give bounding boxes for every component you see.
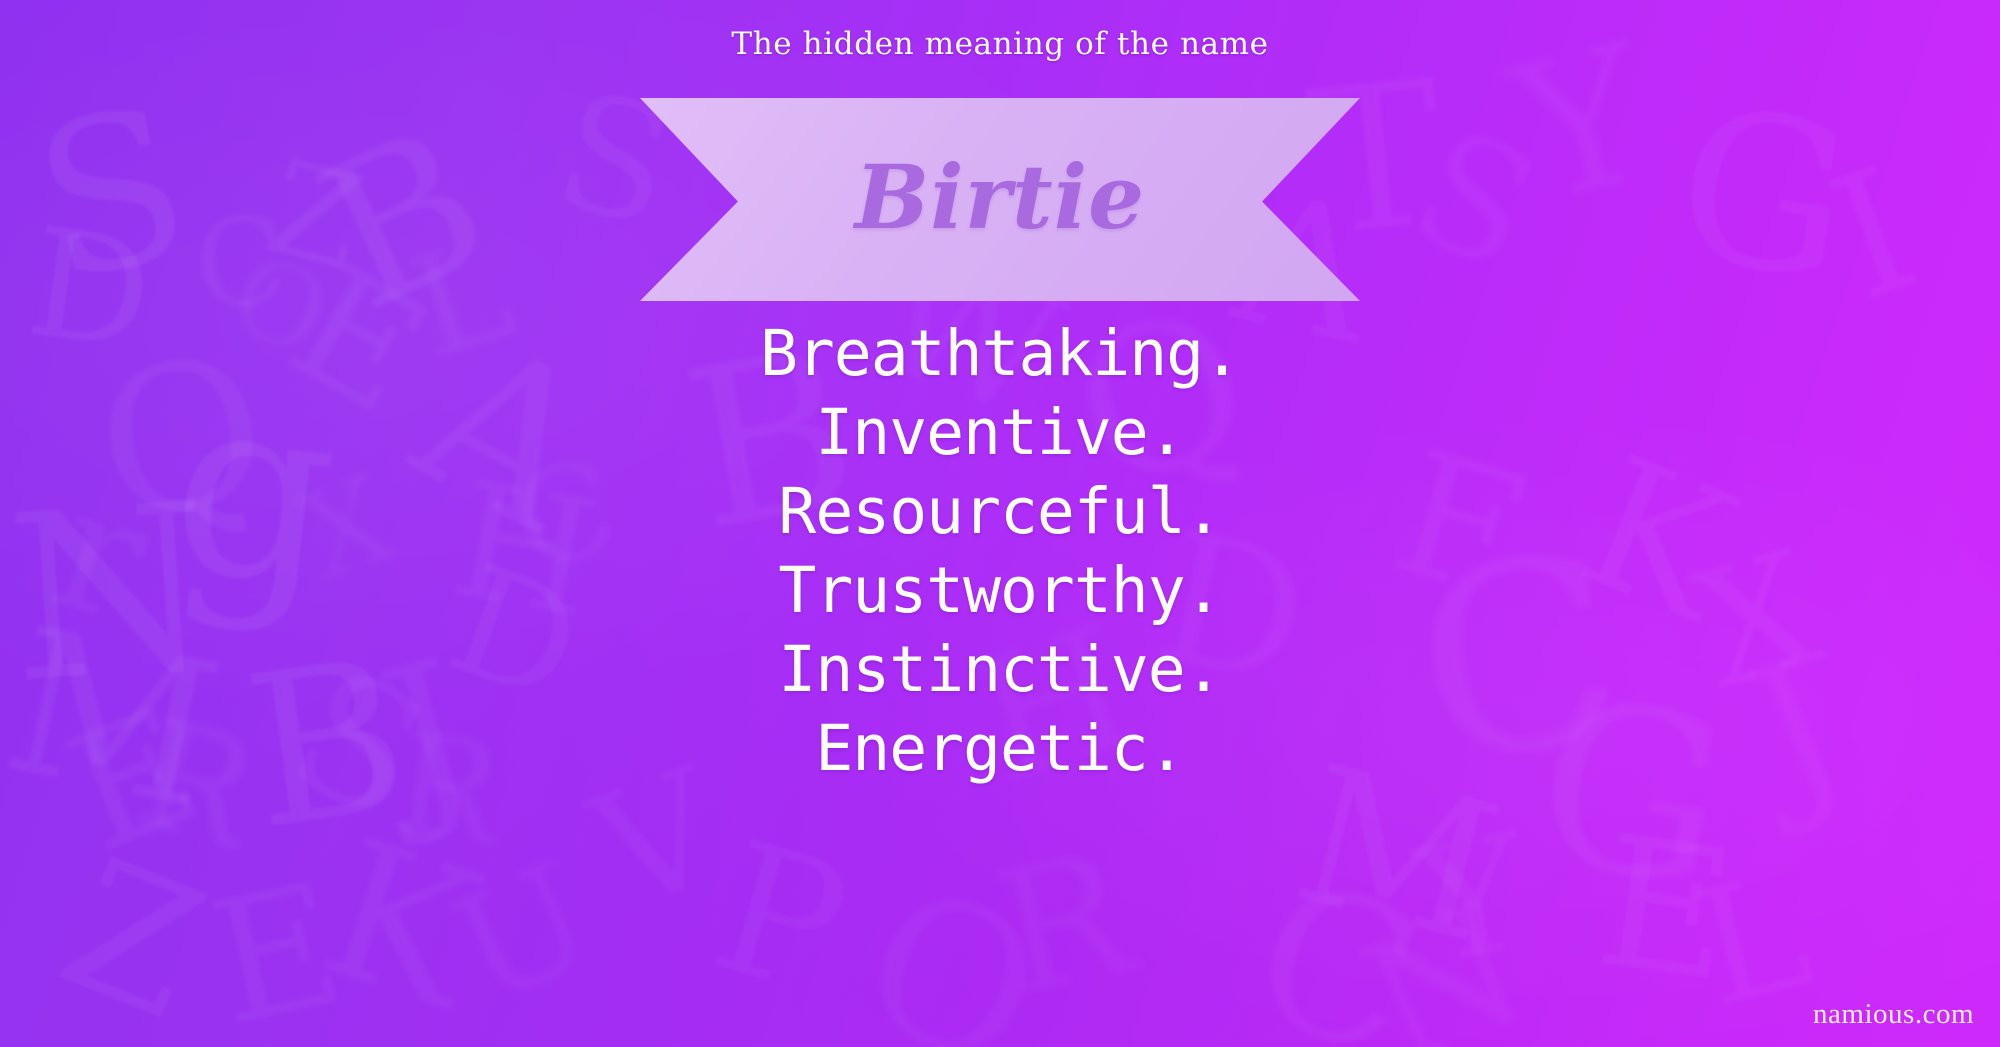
meaning-line: Inventive. [0,393,2000,472]
meaning-line: Energetic. [0,709,2000,788]
meaning-line: Resourceful. [0,472,2000,551]
background-letter: E [199,859,356,1047]
background-letter: E [1588,812,1743,1009]
meaning-line: Breathtaking. [0,314,2000,393]
background-letter: Z [41,833,224,1047]
site-watermark: namious.com [1813,998,1974,1031]
background-letter: U [435,841,612,1029]
background-letter: R [984,829,1145,1022]
background-letter: O [841,858,1063,1047]
name-text: Birtie [640,98,1360,301]
page-title: The hidden meaning of the name [0,26,2000,62]
background-letter: N [1342,877,1547,1047]
background-letter: I [1813,144,1934,327]
meaning-line: Instinctive. [0,630,2000,709]
background-letter: S [20,77,204,312]
background-letter: L [1682,850,1824,1031]
background-letter: Z [256,141,375,289]
meaning-list: Breathtaking.Inventive.Resourceful.Trust… [0,300,2000,788]
background-letter: K [304,813,498,1038]
background-letter: Y [1407,812,1539,988]
background-letter: G [1665,78,1864,312]
name-meaning-card: SZCODBELgQrXNAHCDMERBSJRZEKUSBWQATSYGIFC… [0,0,2000,1047]
background-letter: S [1392,105,1557,296]
background-letter: C [1233,851,1440,1047]
background-letter: P [698,817,864,1023]
name-ribbon-banner: Birtie [640,98,1360,301]
meaning-line: Trustworthy. [0,551,2000,630]
